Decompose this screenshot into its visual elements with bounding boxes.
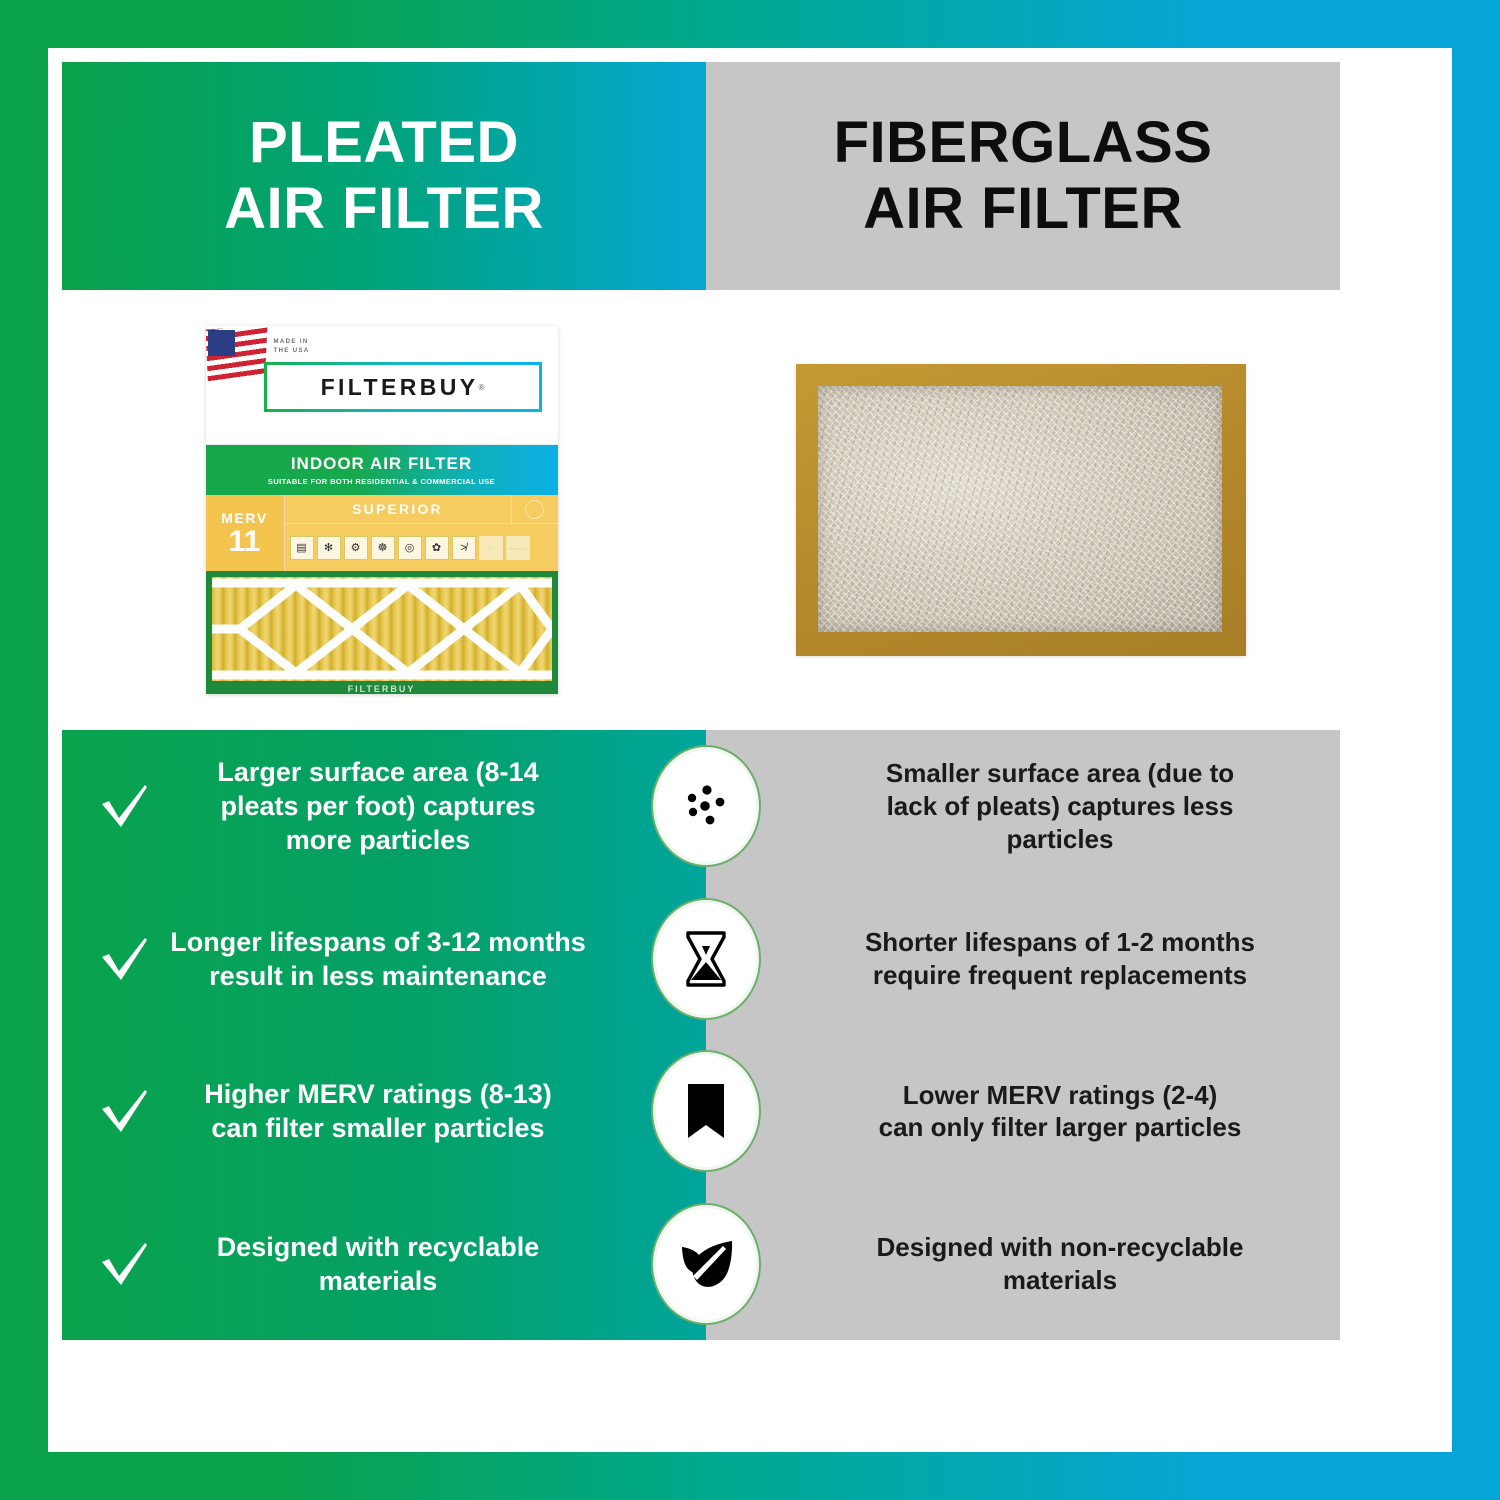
product-image-band: MADE IN THE USA FILTERBUY® INDOOR AIR FI… bbox=[62, 290, 1340, 730]
comparison-row-right-1: Smaller surface area (due to lack of ple… bbox=[706, 730, 1340, 883]
feature-icon-virus-faded: ○ bbox=[479, 536, 503, 560]
filterbuy-logo-tm: ® bbox=[479, 383, 485, 392]
filterbuy-logo: FILTERBUY® bbox=[264, 362, 542, 412]
comparison-text-right-4: Designed with non-recyclable materials bbox=[814, 1231, 1306, 1297]
pleated-rows: Larger surface area (8-14 pleats per foo… bbox=[62, 730, 706, 1340]
pleated-media-body: FILTERBUY bbox=[206, 571, 558, 694]
header-fiberglass: FIBERGLASS AIR FILTER bbox=[706, 62, 1340, 290]
header-pleated: PLEATED AIR FILTER bbox=[62, 62, 706, 290]
outer-gradient-frame: PLEATED AIR FILTER FIBERGLASS AIR FILTER… bbox=[0, 0, 1500, 1500]
feature-icon-insect: ✻ bbox=[317, 536, 341, 560]
indoor-air-filter-subtitle: SUITABLE FOR BOTH RESIDENTIAL & COMMERCI… bbox=[268, 477, 495, 486]
pleat-media bbox=[212, 577, 552, 681]
checkmark-icon bbox=[96, 1083, 152, 1139]
comparison-row-left-3: Higher MERV ratings (8-13) can filter sm… bbox=[62, 1035, 706, 1188]
comparison-row-right-2: Shorter lifespans of 1-2 months require … bbox=[706, 883, 1340, 1036]
feature-icon-odor-faded: ⸺ bbox=[506, 536, 530, 560]
indoor-air-filter-title: INDOOR AIR FILTER bbox=[291, 454, 472, 474]
comparison-row-right-4: Designed with non-recyclable materials bbox=[706, 1188, 1340, 1341]
feature-icon-pollen: ⚙ bbox=[344, 536, 368, 560]
comparison-row-left-2: Longer lifespans of 3-12 months result i… bbox=[62, 883, 706, 1036]
tier-label: SUPERIOR bbox=[285, 501, 511, 517]
merv-row: MERV 11 SUPERIOR ▤ bbox=[206, 495, 558, 571]
wire-support-grid bbox=[212, 577, 552, 681]
pleated-benefits-column: Larger surface area (8-14 pleats per foo… bbox=[62, 730, 706, 1340]
comparison-section: Larger surface area (8-14 pleats per foo… bbox=[62, 730, 1340, 1340]
fiberglass-rows: Smaller surface area (due to lack of ple… bbox=[706, 730, 1340, 1340]
comparison-text-right-3: Lower MERV ratings (2-4) can only filter… bbox=[814, 1079, 1306, 1145]
header-row: PLEATED AIR FILTER FIBERGLASS AIR FILTER bbox=[62, 62, 1340, 290]
indoor-air-filter-band: INDOOR AIR FILTER SUITABLE FOR BOTH RESI… bbox=[206, 445, 558, 495]
checkmark-icon bbox=[96, 1236, 152, 1292]
header-pleated-title: PLEATED AIR FILTER bbox=[224, 110, 544, 242]
usa-flag-icon bbox=[206, 326, 268, 384]
comparison-row-left-1: Larger surface area (8-14 pleats per foo… bbox=[62, 730, 706, 883]
comparison-row-right-3: Lower MERV ratings (2-4) can only filter… bbox=[706, 1035, 1340, 1188]
fiberglass-filter-image bbox=[796, 364, 1246, 656]
feature-icon-pet-dander: ✿ bbox=[425, 536, 449, 560]
pleated-footer-brand: FILTERBUY bbox=[206, 684, 558, 694]
feature-icon-mold: ☸ bbox=[371, 536, 395, 560]
checkmark-icon bbox=[96, 931, 152, 987]
merv-badge: MERV 11 bbox=[206, 495, 285, 571]
tier-row: SUPERIOR bbox=[285, 495, 558, 524]
comparison-text-left-4: Designed with recyclable materials bbox=[158, 1230, 598, 1298]
fiberglass-product-cell bbox=[701, 290, 1340, 730]
comparison-text-left-1: Larger surface area (8-14 pleats per foo… bbox=[158, 755, 598, 857]
feature-icon-bacteria: ◎ bbox=[398, 536, 422, 560]
comparison-row-left-4: Designed with recyclable materials bbox=[62, 1188, 706, 1341]
fiberglass-drawbacks-column: Smaller surface area (due to lack of ple… bbox=[706, 730, 1340, 1340]
feature-icon-smoke: ≯ bbox=[452, 536, 476, 560]
filterbuy-logo-text: FILTERBUY bbox=[321, 374, 479, 401]
feature-icon-dust: ▤ bbox=[290, 536, 314, 560]
comparison-text-right-1: Smaller surface area (due to lack of ple… bbox=[814, 757, 1306, 855]
merv-value: 11 bbox=[229, 527, 261, 557]
certification-seal-icon bbox=[511, 495, 558, 523]
infographic-content: PLEATED AIR FILTER FIBERGLASS AIR FILTER… bbox=[62, 62, 1340, 1340]
pleated-product-cell: MADE IN THE USA FILTERBUY® INDOOR AIR FI… bbox=[62, 290, 701, 730]
header-fiberglass-title: FIBERGLASS AIR FILTER bbox=[834, 110, 1213, 242]
seal-circle bbox=[525, 500, 544, 519]
fiberglass-mesh bbox=[818, 386, 1222, 632]
made-in-usa-text: MADE IN THE USA bbox=[274, 338, 310, 356]
comparison-text-left-3: Higher MERV ratings (8-13) can filter sm… bbox=[158, 1077, 598, 1145]
comparison-text-left-2: Longer lifespans of 3-12 months result i… bbox=[158, 925, 598, 993]
pleated-filter-image: MADE IN THE USA FILTERBUY® INDOOR AIR FI… bbox=[206, 326, 558, 694]
comparison-text-right-2: Shorter lifespans of 1-2 months require … bbox=[814, 926, 1306, 992]
merv-detail: SUPERIOR ▤ ✻ ⚙ ☸ ◎ ✿ bbox=[285, 495, 558, 571]
merv-label: MERV bbox=[221, 510, 268, 526]
pleated-label-top: MADE IN THE USA FILTERBUY® bbox=[206, 326, 558, 445]
label-feature-icons: ▤ ✻ ⚙ ☸ ◎ ✿ ≯ ○ ⸺ bbox=[285, 524, 558, 571]
checkmark-icon bbox=[96, 778, 152, 834]
